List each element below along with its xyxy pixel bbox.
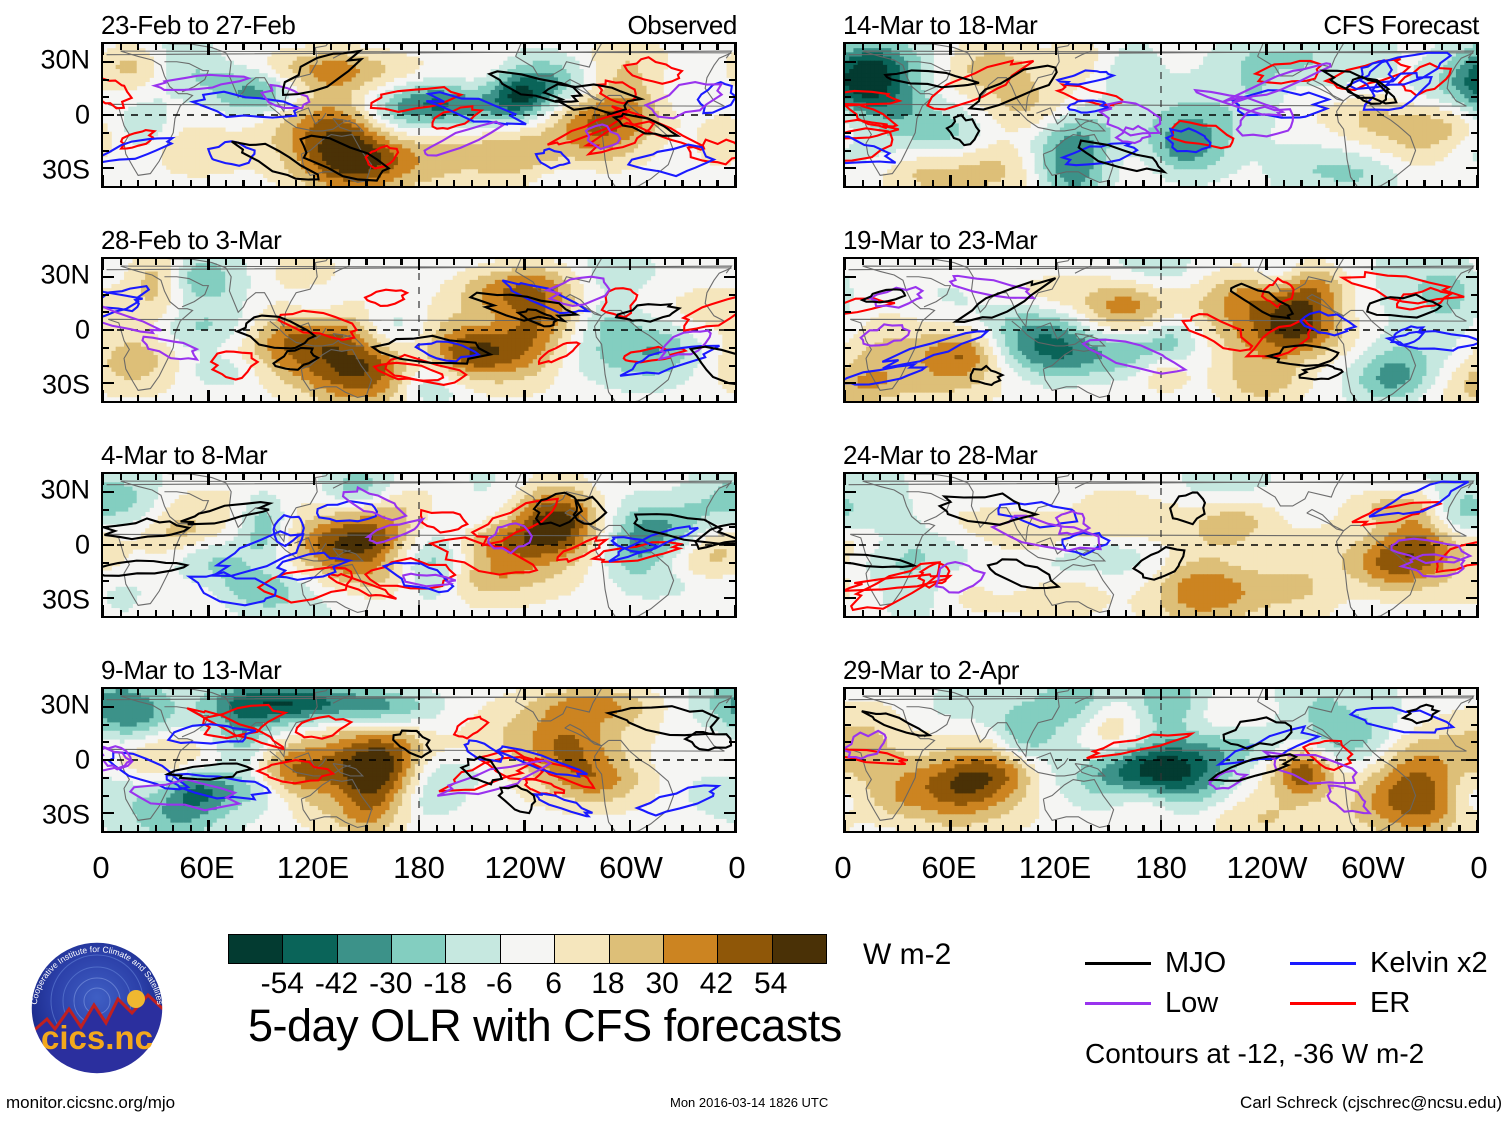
y-tick: [1471, 79, 1477, 81]
x-tick: [844, 390, 846, 401]
x-tick: [453, 689, 455, 695]
y-tick: [724, 491, 735, 493]
y-tick: [845, 382, 856, 384]
x-tick: [313, 44, 315, 55]
x-tick: [260, 474, 262, 480]
x-tick: [330, 44, 332, 50]
y-tick: [845, 812, 856, 814]
y-tick: [845, 706, 856, 708]
y-tick: [103, 276, 114, 278]
x-tick: [1476, 605, 1478, 616]
colorbar-tick-label: -54: [261, 967, 304, 1001]
map-body[interactable]: [843, 687, 1479, 833]
x-tick: [365, 180, 367, 186]
x-tick: [523, 689, 525, 700]
x-tick: [365, 395, 367, 401]
x-tick: [418, 474, 420, 485]
x-tick: [1318, 825, 1320, 831]
y-tick: [845, 597, 856, 599]
x-tick: [734, 689, 736, 700]
x-tick: [155, 180, 157, 186]
x-tick: [1072, 180, 1074, 186]
x-tick: [120, 259, 122, 265]
wave-legend: MJO Kelvin x2 Low ER Contours at -12, -3…: [1085, 947, 1505, 1071]
x-tick: [1178, 474, 1180, 480]
x-tick: [260, 825, 262, 831]
x-tick: [716, 474, 718, 480]
y-tick: [103, 526, 109, 528]
contour-level-note: Contours at -12, -36 W m-2: [1085, 1037, 1505, 1071]
panel-title: 29-Mar to 2-Apr: [843, 655, 1019, 685]
er-line-swatch: [1290, 1002, 1356, 1005]
x-tick: [330, 474, 332, 480]
x-tick: [1318, 44, 1320, 50]
x-tick: [488, 610, 490, 616]
x-tick: [1353, 689, 1355, 695]
map-body[interactable]: [843, 472, 1479, 618]
legend-label-er: ER: [1370, 987, 1410, 1019]
colorbar-tick-label: -18: [423, 967, 466, 1001]
x-tick: [1458, 474, 1460, 480]
y-tick: [845, 150, 851, 152]
x-tick: [1125, 395, 1127, 401]
x-tick: [594, 610, 596, 616]
x-tick: [418, 820, 420, 831]
x-tick: [984, 825, 986, 831]
x-tick: [295, 259, 297, 265]
x-tick: [506, 825, 508, 831]
colorbar-swatch: [555, 935, 609, 963]
y-tick-label: 0: [75, 102, 90, 129]
x-tick: [137, 395, 139, 401]
x-tick: [1300, 395, 1302, 401]
x-tick: [102, 390, 104, 401]
x-tick: [862, 689, 864, 695]
x-tick: [611, 474, 613, 480]
x-tick: [1107, 474, 1109, 480]
y-tick: [103, 795, 109, 797]
x-tick: [1107, 610, 1109, 616]
x-tick: [1283, 259, 1285, 265]
x-tick: [1353, 825, 1355, 831]
x-tick: [1458, 44, 1460, 50]
x-tick: [1458, 395, 1460, 401]
x-tick: [365, 610, 367, 616]
x-tick: [1248, 610, 1250, 616]
map-panel: 19-Mar to 23-Mar: [843, 257, 1479, 403]
x-tick: [1388, 259, 1390, 265]
x-tick: [1318, 180, 1320, 186]
y-tick: [1471, 132, 1477, 134]
y-tick: [103, 562, 109, 564]
x-tick: [1055, 175, 1057, 186]
x-tick: [1441, 259, 1443, 265]
x-tick: [932, 395, 934, 401]
x-tick: [1300, 689, 1302, 695]
x-tick: [1353, 474, 1355, 480]
x-tick: [1195, 689, 1197, 695]
x-tick: [1037, 259, 1039, 265]
x-tick: [576, 44, 578, 50]
panel-field: [103, 689, 735, 831]
x-tick: [949, 390, 951, 401]
x-tick: [1142, 610, 1144, 616]
x-tick: [1248, 180, 1250, 186]
x-tick: [1055, 820, 1057, 831]
x-tick: [295, 825, 297, 831]
x-tick-label: 0: [834, 851, 851, 885]
x-tick: [664, 44, 666, 50]
y-tick: [103, 812, 114, 814]
x-axis-labels: 060E120E180120W60W0: [843, 851, 1479, 891]
panel-field: [103, 474, 735, 616]
colorbar-tick-label: 6: [545, 967, 562, 1001]
colorbar-tick-label: 54: [754, 967, 787, 1001]
x-tick: [1090, 395, 1092, 401]
x-tick: [330, 610, 332, 616]
x-tick: [506, 44, 508, 50]
y-tick: [103, 706, 114, 708]
x-tick: [190, 610, 192, 616]
x-tick: [1055, 259, 1057, 270]
x-tick: [488, 689, 490, 695]
x-tick: [1353, 610, 1355, 616]
logo-wordmark: cics.nc: [41, 1019, 153, 1056]
x-tick: [862, 44, 864, 50]
footer-url[interactable]: monitor.cicsnc.org/mjo: [6, 1093, 175, 1113]
x-tick: [1142, 44, 1144, 50]
x-tick-label: 60W: [599, 851, 663, 885]
x-tick: [1318, 474, 1320, 480]
x-tick: [984, 395, 986, 401]
x-tick: [984, 180, 986, 186]
x-tick: [1160, 689, 1162, 700]
x-tick: [172, 825, 174, 831]
x-tick: [646, 259, 648, 265]
y-tick: [103, 724, 109, 726]
y-tick: [729, 580, 735, 582]
x-tick: [1090, 689, 1092, 695]
x-tick: [1055, 44, 1057, 55]
x-tick: [506, 395, 508, 401]
x-tick: [1125, 689, 1127, 695]
x-tick: [1020, 474, 1022, 480]
x-tick: [681, 474, 683, 480]
colorbar-tick-label: 42: [700, 967, 733, 1001]
y-tick: [724, 276, 735, 278]
x-tick: [453, 474, 455, 480]
colorbar-tick-label: -6: [486, 967, 513, 1001]
x-tick: [523, 474, 525, 485]
x-tick: [1037, 180, 1039, 186]
x-tick: [862, 610, 864, 616]
colorbar-tick-label: 18: [591, 967, 624, 1001]
x-tick: [558, 610, 560, 616]
x-tick: [295, 395, 297, 401]
y-tick: [845, 167, 856, 169]
y-tick: [845, 132, 851, 134]
x-tick: [932, 180, 934, 186]
x-tick: [716, 395, 718, 401]
x-tick: [932, 474, 934, 480]
x-tick: [1037, 474, 1039, 480]
y-tick-label: 0: [75, 532, 90, 559]
x-tick: [225, 44, 227, 50]
x-tick: [932, 825, 934, 831]
x-tick: [1160, 175, 1162, 186]
x-tick: [453, 180, 455, 186]
y-tick: [845, 79, 851, 81]
colorbar-swatch: [501, 935, 555, 963]
map-body[interactable]: [101, 472, 737, 618]
x-tick: [225, 825, 227, 831]
x-tick: [716, 44, 718, 50]
x-tick: [1265, 820, 1267, 831]
y-tick: [1466, 61, 1477, 63]
x-tick: [967, 44, 969, 50]
map-panel: 4-Mar to 8-Mar30N030S: [101, 472, 737, 618]
x-tick: [716, 825, 718, 831]
x-tick: [488, 259, 490, 265]
x-tick: [1406, 259, 1408, 265]
y-tick: [103, 61, 114, 63]
x-tick: [1230, 395, 1232, 401]
x-tick: [611, 689, 613, 695]
x-tick: [1458, 825, 1460, 831]
x-tick: [576, 259, 578, 265]
x-tick: [1283, 474, 1285, 480]
colorbar-tick-label: -42: [315, 967, 358, 1001]
x-tick: [629, 44, 631, 55]
y-tick: [729, 132, 735, 134]
y-tick: [729, 150, 735, 152]
x-tick: [681, 180, 683, 186]
x-tick: [541, 825, 543, 831]
x-tick: [1441, 180, 1443, 186]
x-tick: [558, 44, 560, 50]
x-tick: [1336, 180, 1338, 186]
y-tick: [845, 777, 851, 779]
x-tick: [523, 259, 525, 270]
colorbar-swatch: [610, 935, 664, 963]
x-tick: [681, 395, 683, 401]
x-tick: [1388, 610, 1390, 616]
x-tick: [383, 259, 385, 265]
x-tick: [1020, 825, 1022, 831]
x-tick: [611, 610, 613, 616]
x-tick: [260, 44, 262, 50]
y-tick: [1466, 114, 1477, 116]
x-tick: [1406, 689, 1408, 695]
x-tick: [207, 175, 209, 186]
map-body[interactable]: [101, 687, 737, 833]
x-tick: [436, 44, 438, 50]
y-tick: [729, 724, 735, 726]
x-tick: [453, 825, 455, 831]
y-tick: [845, 276, 856, 278]
x-tick: [1476, 820, 1478, 831]
x-tick: [1388, 825, 1390, 831]
x-axis-labels: 060E120E180120W60W0: [101, 851, 737, 891]
x-tick: [914, 395, 916, 401]
x-tick: [120, 689, 122, 695]
x-tick: [879, 610, 881, 616]
x-tick: [844, 44, 846, 55]
panel-title: 28-Feb to 3-Mar: [101, 225, 281, 255]
colorbar-group: -54-42-30-18-6618304254: [228, 934, 828, 1001]
y-tick: [845, 724, 851, 726]
panel-title: 4-Mar to 8-Mar: [101, 440, 267, 470]
x-tick: [383, 610, 385, 616]
y-tick: [845, 114, 856, 116]
x-tick: [278, 180, 280, 186]
map-body[interactable]: [101, 257, 737, 403]
legend-item-mjo: MJO: [1085, 947, 1226, 979]
y-tick: [1471, 365, 1477, 367]
x-tick: [844, 474, 846, 485]
y-tick: [845, 526, 851, 528]
y-tick: [845, 491, 856, 493]
x-tick: [558, 259, 560, 265]
figure-root: 23-Feb to 27-FebObserved30N030S 28-Feb t…: [0, 0, 1510, 1121]
x-tick-label: 120W: [1227, 851, 1308, 885]
x-tick: [383, 395, 385, 401]
map-body[interactable]: [843, 42, 1479, 188]
y-tick: [729, 79, 735, 81]
y-tick: [724, 329, 735, 331]
x-tick: [897, 825, 899, 831]
x-tick: [120, 474, 122, 480]
x-tick: [1107, 825, 1109, 831]
map-body[interactable]: [843, 257, 1479, 403]
x-tick: [137, 825, 139, 831]
x-tick: [1283, 395, 1285, 401]
x-tick: [664, 689, 666, 695]
x-tick: [102, 175, 104, 186]
colorbar-swatch: [773, 935, 826, 963]
y-tick: [103, 597, 114, 599]
x-tick: [1336, 395, 1338, 401]
y-tick-label: 30N: [40, 262, 90, 289]
x-tick: [278, 44, 280, 50]
x-tick: [862, 395, 864, 401]
y-tick: [103, 777, 109, 779]
x-tick: [488, 825, 490, 831]
x-tick: [260, 180, 262, 186]
x-tick: [1230, 44, 1232, 50]
y-tick: [1471, 96, 1477, 98]
x-tick: [137, 610, 139, 616]
x-tick: [155, 259, 157, 265]
x-tick: [1371, 390, 1373, 401]
colorbar-swatch: [229, 935, 283, 963]
x-tick: [207, 390, 209, 401]
x-tick: [1406, 610, 1408, 616]
x-tick: [541, 395, 543, 401]
x-tick: [365, 825, 367, 831]
kelvin-line-swatch: [1290, 962, 1356, 965]
y-tick: [724, 167, 735, 169]
y-tick: [103, 114, 114, 116]
x-tick: [879, 474, 881, 480]
x-tick: [1002, 259, 1004, 265]
x-tick: [488, 474, 490, 480]
x-tick: [523, 175, 525, 186]
x-tick: [1125, 180, 1127, 186]
x-tick: [383, 825, 385, 831]
panel-field: [103, 44, 735, 186]
x-tick: [629, 689, 631, 700]
x-tick: [1248, 395, 1250, 401]
x-tick: [1265, 605, 1267, 616]
x-tick: [225, 689, 227, 695]
y-tick: [103, 294, 109, 296]
x-tick: [295, 180, 297, 186]
x-tick: [1037, 44, 1039, 50]
low-line-swatch: [1085, 1002, 1151, 1005]
x-tick: [295, 474, 297, 480]
y-tick: [103, 759, 114, 761]
x-tick: [594, 259, 596, 265]
y-tick: [1466, 812, 1477, 814]
x-tick: [1178, 259, 1180, 265]
x-tick: [1476, 474, 1478, 485]
x-tick: [278, 259, 280, 265]
x-tick: [523, 605, 525, 616]
x-tick: [242, 825, 244, 831]
y-tick-label: 30N: [40, 477, 90, 504]
map-panel: 29-Mar to 2-Apr060E120E180120W60W0: [843, 687, 1479, 833]
x-tick: [1441, 395, 1443, 401]
y-tick: [724, 706, 735, 708]
x-tick: [155, 474, 157, 480]
x-tick: [172, 395, 174, 401]
y-tick: [724, 597, 735, 599]
page-title: 5-day OLR with CFS forecasts: [248, 1000, 842, 1052]
x-tick: [120, 395, 122, 401]
x-tick: [1265, 390, 1267, 401]
x-tick: [699, 474, 701, 480]
x-tick: [1406, 180, 1408, 186]
x-tick: [523, 820, 525, 831]
x-tick: [879, 395, 881, 401]
x-tick-label: 180: [393, 851, 445, 885]
x-tick: [1248, 825, 1250, 831]
x-tick: [260, 689, 262, 695]
footer-timestamp: Mon 2016-03-14 1826 UTC: [670, 1093, 828, 1113]
x-tick: [225, 610, 227, 616]
x-tick: [137, 689, 139, 695]
x-tick: [932, 610, 934, 616]
x-tick: [699, 395, 701, 401]
y-tick: [1466, 382, 1477, 384]
x-tick: [1423, 610, 1425, 616]
legend-row-2: Low ER: [1085, 987, 1505, 1027]
x-tick: [471, 474, 473, 480]
map-body[interactable]: [101, 42, 737, 188]
x-tick: [681, 259, 683, 265]
x-tick: [436, 825, 438, 831]
x-tick: [646, 395, 648, 401]
x-tick: [1248, 689, 1250, 695]
x-tick: [471, 259, 473, 265]
x-tick: [879, 259, 881, 265]
legend-item-low: Low: [1085, 987, 1218, 1019]
x-tick: [190, 259, 192, 265]
x-tick: [1423, 825, 1425, 831]
x-tick: [172, 689, 174, 695]
x-tick: [949, 820, 951, 831]
